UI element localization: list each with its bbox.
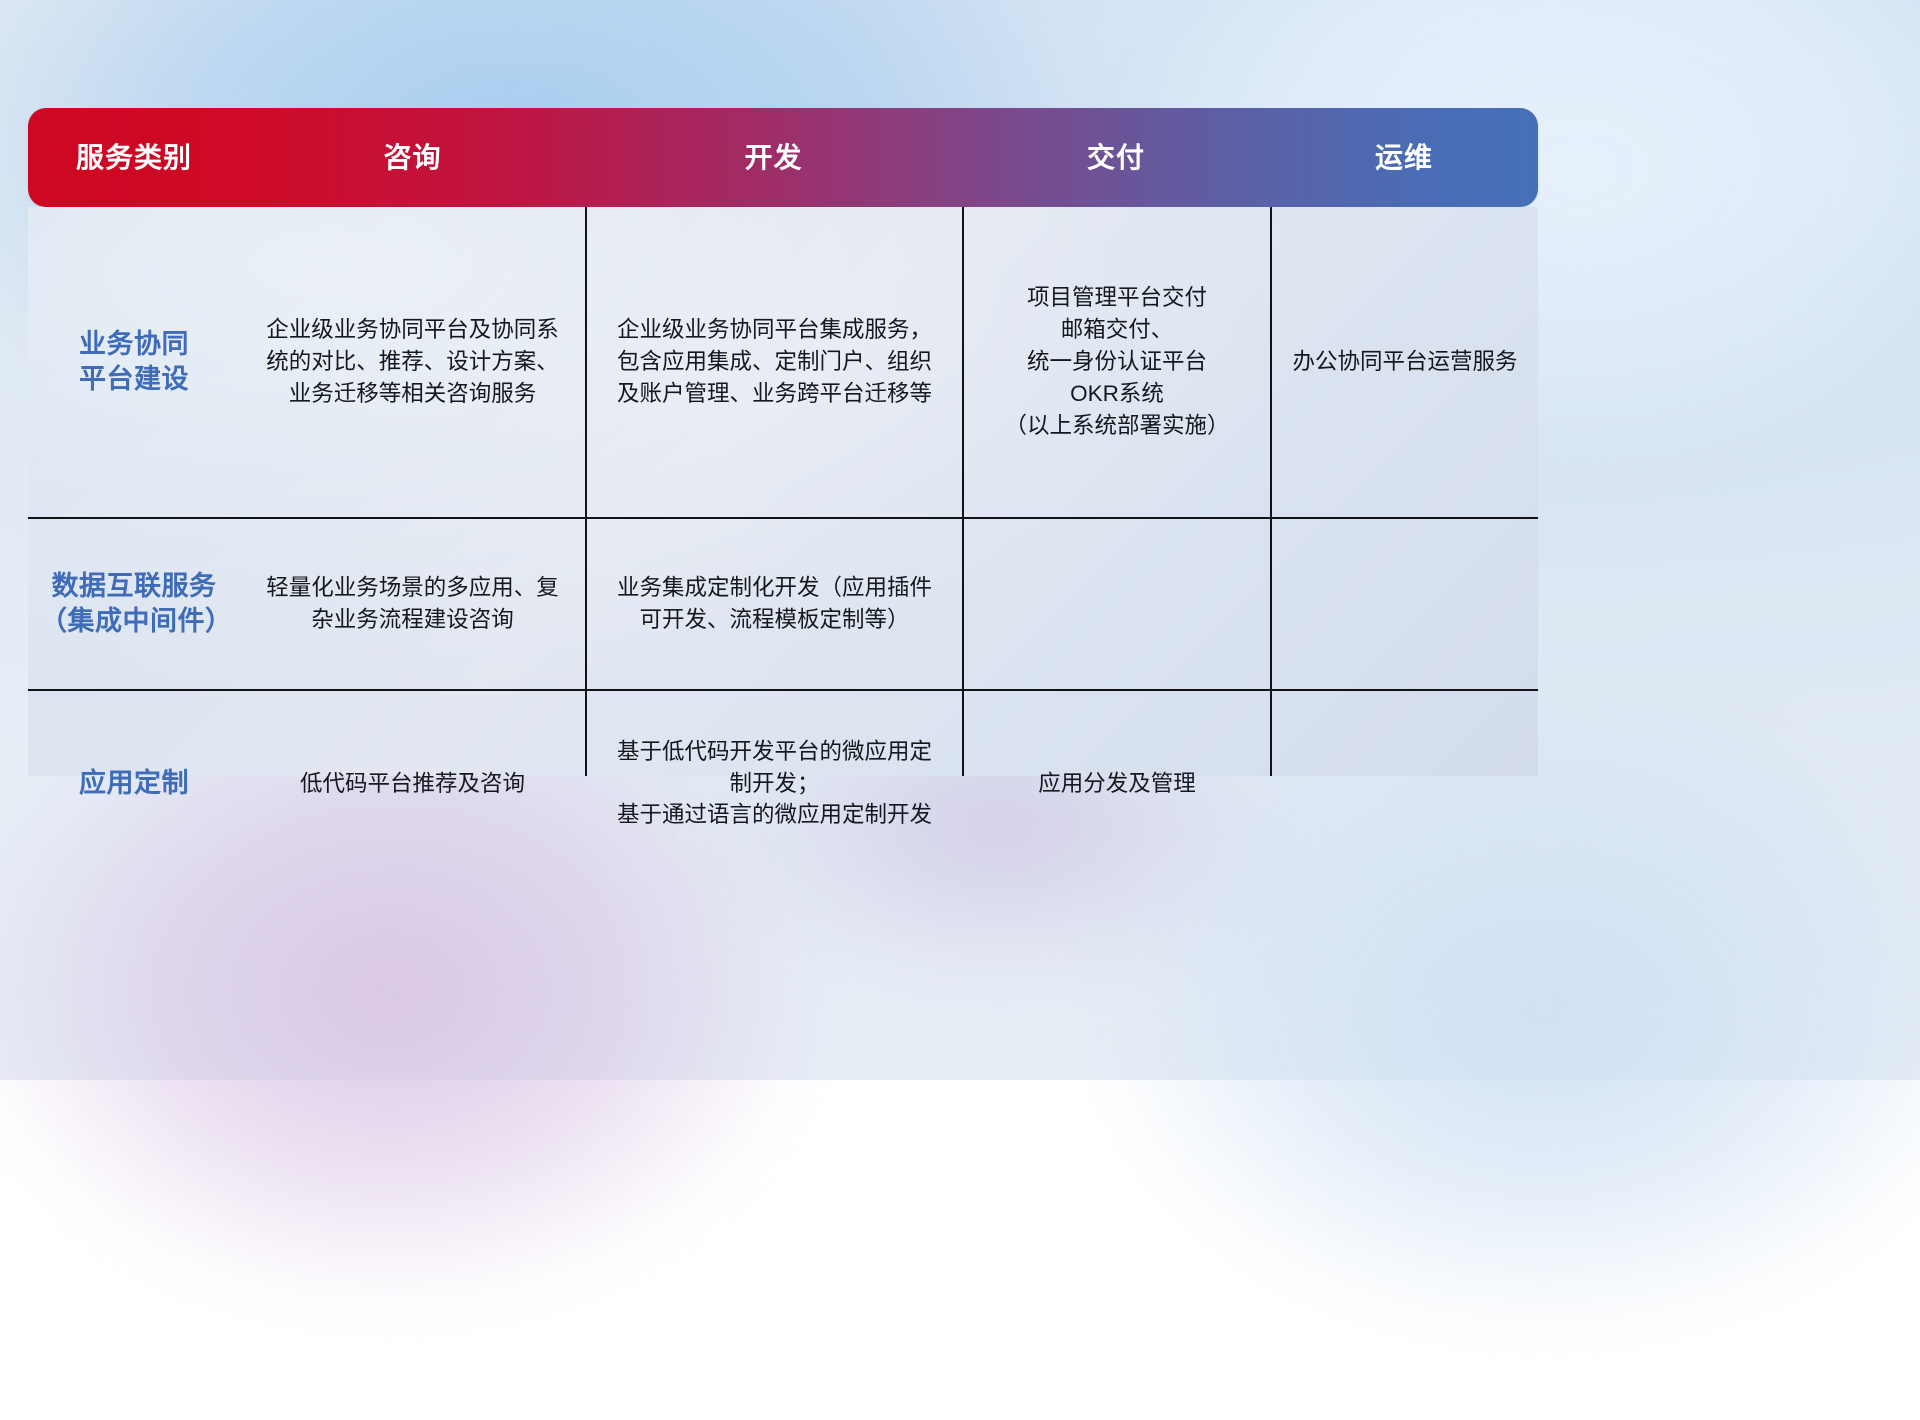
slide-canvas: 服务类别 咨询 开发 交付 运维 业务协同 平台建设 企业级业务协同平台及协同系… <box>0 0 1920 1080</box>
cell-ops-row-2-wrap <box>1272 519 1538 689</box>
header-cell-develop: 开发 <box>585 144 962 172</box>
cell-develop-row-3: 基于低代码开发平台的微应用定 制开发； 基于通过语言的微应用定制开发 <box>617 736 932 832</box>
cell-develop-row-1-wrap: 企业级业务协同平台集成服务， 包含应用集成、定制门户、组织 及账户管理、业务跨平… <box>587 207 962 517</box>
table-row: 数据互联服务 （集成中间件） <box>28 519 240 689</box>
cell-develop-row-3-wrap: 基于低代码开发平台的微应用定 制开发； 基于通过语言的微应用定制开发 <box>587 691 962 876</box>
cell-deliver-row-2-wrap <box>964 519 1270 689</box>
cell-ops-row-1-wrap: 办公协同平台运营服务 <box>1272 207 1538 517</box>
table-row: 业务协同 平台建设 <box>28 207 240 517</box>
cell-consult-row-2: 轻量化业务场景的多应用、复 杂业务流程建设咨询 <box>266 572 559 636</box>
cell-ops-row-3-wrap <box>1272 691 1538 876</box>
cell-consult-row-3-wrap: 低代码平台推荐及咨询 <box>240 691 585 876</box>
header-cell-consult: 咨询 <box>240 144 585 172</box>
cell-develop-row-1: 企业级业务协同平台集成服务， 包含应用集成、定制门户、组织 及账户管理、业务跨平… <box>617 314 932 410</box>
header-cell-ops: 运维 <box>1270 144 1538 172</box>
cell-consult-row-1-wrap: 企业级业务协同平台及协同系 统的对比、推荐、设计方案、 业务迁移等相关咨询服务 <box>240 207 585 517</box>
cell-develop-row-2: 业务集成定制化开发（应用插件 可开发、流程模板定制等） <box>617 572 932 636</box>
cell-deliver-row-1: 项目管理平台交付 邮箱交付、 统一身份认证平台 OKR系统 （以上系统部署实施） <box>1004 282 1229 442</box>
cell-deliver-row-3-wrap: 应用分发及管理 <box>964 691 1270 876</box>
cell-category-row-3: 应用定制 <box>79 766 189 801</box>
table-body: 业务协同 平台建设 企业级业务协同平台及协同系 统的对比、推荐、设计方案、 业务… <box>28 207 1538 776</box>
table-header-row: 服务类别 咨询 开发 交付 运维 <box>28 108 1538 207</box>
table-row: 应用定制 <box>28 691 240 876</box>
cell-consult-row-3: 低代码平台推荐及咨询 <box>300 768 525 800</box>
cell-consult-row-2-wrap: 轻量化业务场景的多应用、复 杂业务流程建设咨询 <box>240 519 585 689</box>
header-cell-deliver: 交付 <box>962 144 1270 172</box>
service-matrix-table: 服务类别 咨询 开发 交付 运维 业务协同 平台建设 企业级业务协同平台及协同系… <box>28 108 1538 776</box>
cell-deliver-row-3: 应用分发及管理 <box>1038 768 1196 800</box>
cell-consult-row-1: 企业级业务协同平台及协同系 统的对比、推荐、设计方案、 业务迁移等相关咨询服务 <box>266 314 559 410</box>
cell-category-row-2: 数据互联服务 （集成中间件） <box>40 569 228 638</box>
cell-develop-row-2-wrap: 业务集成定制化开发（应用插件 可开发、流程模板定制等） <box>587 519 962 689</box>
cell-deliver-row-1-wrap: 项目管理平台交付 邮箱交付、 统一身份认证平台 OKR系统 （以上系统部署实施） <box>964 207 1270 517</box>
cell-ops-row-1: 办公协同平台运营服务 <box>1292 346 1517 378</box>
cell-category-row-1: 业务协同 平台建设 <box>79 327 189 396</box>
header-cell-category: 服务类别 <box>28 144 240 172</box>
